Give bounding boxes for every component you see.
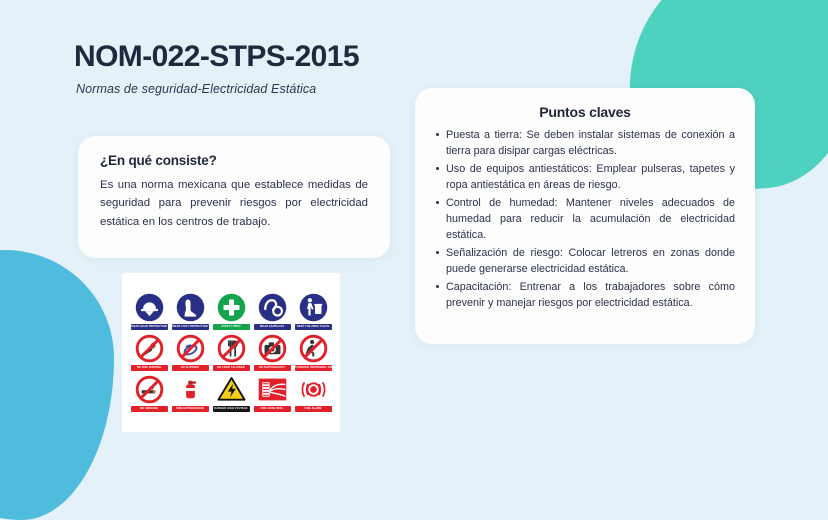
safety-sign: NO SMOKING — [130, 375, 168, 412]
safety-sign-caption: NO SMOKING — [131, 406, 168, 412]
key-points-card: Puntos claves Puesta a tierra: Se deben … — [415, 88, 755, 344]
page-title: NOM-022-STPS-2015 — [74, 40, 359, 73]
slide-header: NOM-022-STPS-2015 Normas de seguridad-El… — [74, 40, 359, 96]
safety-sign-caption: KEEP THE AREA CLEAN — [295, 324, 332, 330]
safety-sign: NO FIRE IGNITING — [130, 334, 168, 371]
definition-card-body: Es una norma mexicana que establece medi… — [100, 176, 368, 231]
definition-card-heading: ¿En qué consiste? — [100, 153, 368, 168]
safety-sign: SAFETY FIRST — [212, 293, 250, 330]
safety-sign: NO FOOD ALLOWED — [212, 334, 250, 371]
no-photography-sign-icon — [258, 334, 287, 363]
key-point-item: Señalización de riesgo: Colocar letreros… — [435, 245, 735, 278]
head-protection-sign-icon — [135, 293, 164, 322]
fire-extinguisher-sign-icon — [176, 375, 205, 404]
safety-sign-caption: AUTHORIZED PERSONNEL ONLY — [295, 365, 332, 371]
safety-sign-row: WEAR HEAD PROTECTIONWEAR FOOT PROTECTION… — [130, 293, 332, 330]
safety-sign-caption: WEAR FOOT PROTECTION — [172, 324, 209, 330]
safety-sign-caption: FIRE HOSE REEL — [254, 406, 291, 412]
safety-sign-caption: NO FOOD ALLOWED — [213, 365, 250, 371]
safety-sign-caption: NO SLIPPERS — [172, 365, 209, 371]
safety-sign-caption: NO FIRE IGNITING — [131, 365, 168, 371]
safety-sign: FIRE ALARM — [294, 375, 332, 412]
key-point-item: Control de humedad: Mantener niveles ade… — [435, 195, 735, 244]
key-points-card-heading: Puntos claves — [435, 104, 735, 120]
safety-sign-caption: DANGER HIGH VOLTAGE — [213, 406, 250, 412]
safety-sign-row: NO FIRE IGNITINGNO SLIPPERSNO FOOD ALLOW… — [130, 334, 332, 371]
safety-sign: KEEP THE AREA CLEAN — [294, 293, 332, 330]
key-point-item: Capacitación: Entrenar a los trabajadore… — [435, 279, 735, 312]
danger-high-voltage-sign-icon — [217, 375, 246, 404]
safety-sign: WEAR FOOT PROTECTION — [171, 293, 209, 330]
no-pedestrians-sign-icon — [299, 334, 328, 363]
ear-protection-sign-icon — [258, 293, 287, 322]
fire-hose-reel-sign-icon — [258, 375, 287, 404]
safety-sign-caption: FIRE ALARM — [295, 406, 332, 412]
definition-card: ¿En qué consiste? Es una norma mexicana … — [78, 136, 390, 258]
safety-sign: NO SLIPPERS — [171, 334, 209, 371]
safety-sign-caption: WEAR EARPLUGS — [254, 324, 291, 330]
key-point-item: Uso de equipos antiestáticos: Emplear pu… — [435, 161, 735, 194]
safety-sign-caption: NO PHOTOGRAPHY — [254, 365, 291, 371]
safety-sign: FIRE EXTINGUISHER — [171, 375, 209, 412]
key-point-item: Puesta a tierra: Se deben instalar siste… — [435, 127, 735, 160]
slide-canvas: NOM-022-STPS-2015 Normas de seguridad-El… — [0, 0, 828, 466]
foot-protection-sign-icon — [176, 293, 205, 322]
safety-sign: FIRE HOSE REEL — [253, 375, 291, 412]
keep-area-tidy-sign-icon — [299, 293, 328, 322]
safety-sign: WEAR EARPLUGS — [253, 293, 291, 330]
safety-sign: WEAR HEAD PROTECTION — [130, 293, 168, 330]
safety-sign: NO PHOTOGRAPHY — [253, 334, 291, 371]
safety-first-sign-icon — [217, 293, 246, 322]
safety-sign-caption: WEAR HEAD PROTECTION — [131, 324, 168, 330]
safety-signs-image: WEAR HEAD PROTECTIONWEAR FOOT PROTECTION… — [122, 273, 340, 432]
safety-sign-caption: SAFETY FIRST — [213, 324, 250, 330]
no-slippers-sign-icon — [176, 334, 205, 363]
no-fire-igniting-sign-icon — [135, 334, 164, 363]
safety-sign-row: NO SMOKINGFIRE EXTINGUISHERDANGER HIGH V… — [130, 375, 332, 412]
safety-sign: AUTHORIZED PERSONNEL ONLY — [294, 334, 332, 371]
safety-sign-caption: FIRE EXTINGUISHER — [172, 406, 209, 412]
fire-alarm-sign-icon — [299, 375, 328, 404]
no-food-allowed-sign-icon — [217, 334, 246, 363]
no-smoking-sign-icon — [135, 375, 164, 404]
safety-sign: DANGER HIGH VOLTAGE — [212, 375, 250, 412]
page-subtitle: Normas de seguridad-Electricidad Estátic… — [76, 82, 359, 96]
key-points-list: Puesta a tierra: Se deben instalar siste… — [435, 127, 735, 311]
